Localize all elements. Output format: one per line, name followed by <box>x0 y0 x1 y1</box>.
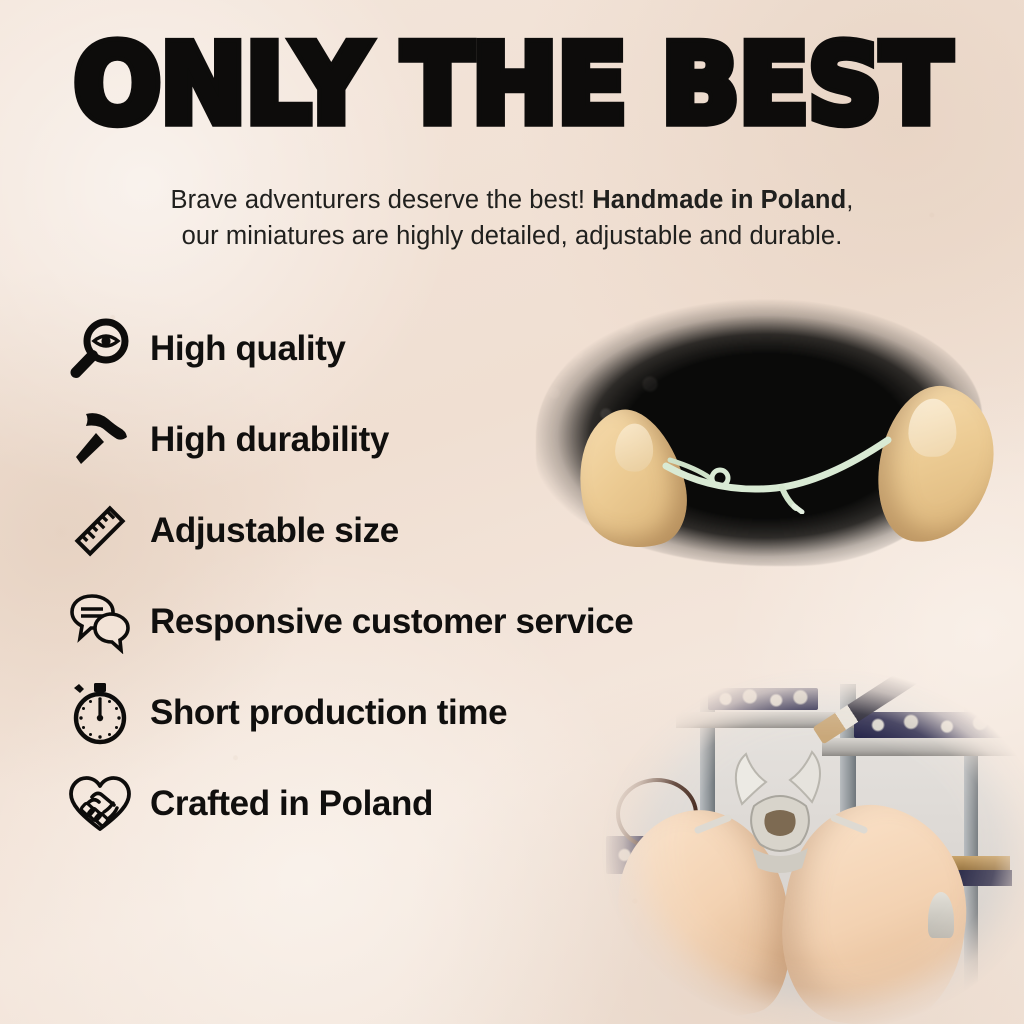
feature-label: High quality <box>150 329 345 369</box>
bendable-miniature-part <box>660 430 896 514</box>
feature-label: Crafted in Poland <box>150 784 433 824</box>
speech-bubbles-icon <box>64 586 136 658</box>
promo-poster: ONLY THE BEST Brave adventurers deserve … <box>0 0 1024 1024</box>
subtitle: Brave adventurers deserve the best! Hand… <box>92 182 932 254</box>
subtitle-emphasis: Handmade in Poland <box>592 186 846 214</box>
dragon-miniature <box>688 744 874 874</box>
miniature-bits <box>854 712 1004 738</box>
hammer-icon <box>64 404 136 476</box>
ruler-icon <box>64 495 136 567</box>
fingernail <box>908 399 956 457</box>
miniature-tray <box>854 712 1004 738</box>
miniature-bits <box>708 688 818 710</box>
magnifier-eye-icon <box>64 313 136 385</box>
photo-painting-workshop <box>592 660 1024 1024</box>
workshop-scene <box>592 660 1024 1024</box>
subtitle-line-2: our miniatures are highly detailed, adju… <box>182 222 843 250</box>
page-title: ONLY THE BEST <box>0 31 1024 140</box>
subtitle-tail: , <box>846 186 853 214</box>
feature-label: High durability <box>150 420 389 460</box>
stopwatch-icon <box>64 677 136 749</box>
feature-label: Adjustable size <box>150 511 399 551</box>
miniature-tray <box>708 688 818 710</box>
feature-label: Responsive customer service <box>150 602 633 642</box>
feature-label: Short production time <box>150 693 507 733</box>
subtitle-lead: Brave adventurers deserve the best! <box>171 186 593 214</box>
fingernail <box>614 423 654 472</box>
heart-handshake-icon <box>64 768 136 840</box>
